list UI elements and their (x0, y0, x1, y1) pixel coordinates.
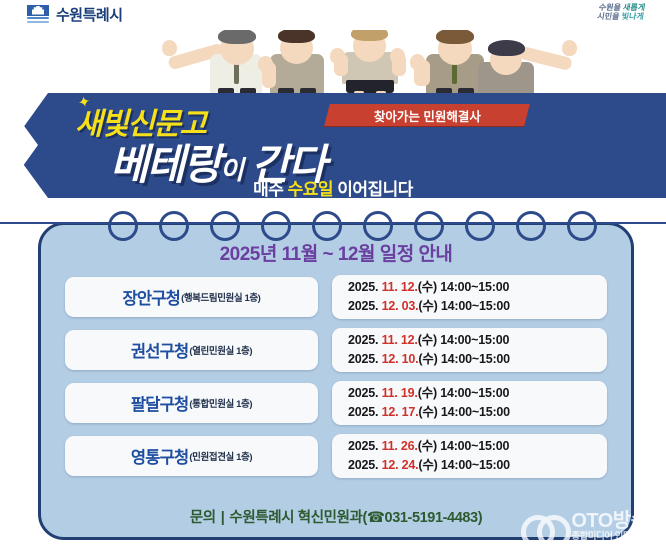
office-cell: 영통구청 (민원접견실 1층) (65, 436, 318, 476)
date-line-2: 2025. 12. 03.(수) 14:00~15:00 (348, 297, 607, 316)
date-rest: (수) 14:00~15:00 (418, 458, 510, 472)
banner-red-badge: 찾아가는 민원해결사 (324, 104, 529, 126)
office-place: (행복드림민원실 1층) (181, 290, 260, 304)
date-rest: (수) 14:00~15:00 (418, 299, 510, 313)
binder-ring-icon (414, 211, 444, 241)
city-slogan: 수원을 새롭게 시민을 빛나게 (596, 3, 645, 21)
date-rest: (수) 14:00~15:00 (418, 386, 510, 400)
page-header: 수원특례시 수원을 새롭게 시민을 빛나게 (0, 0, 666, 30)
tagline-part-a: 매주 (253, 180, 288, 199)
slogan-line1-b: 새롭게 (622, 3, 646, 12)
date-year: 2025. (348, 280, 382, 294)
banner-content: ✦ 새빛신문고 찾아가는 민원해결사 베테랑이 간다 매주 수요일 이어집니다 (0, 93, 666, 198)
table-row: 권선구청 (열린민원실 1층) 2025. 11. 12.(수) 14:00~1… (65, 328, 607, 372)
date-monthday: 12. 03. (382, 299, 419, 313)
date-rest: (수) 14:00~15:00 (418, 280, 510, 294)
schedule-rows: 장안구청 (행복드림민원실 1층) 2025. 11. 12.(수) 14:00… (65, 275, 607, 487)
date-line-2: 2025. 12. 24.(수) 14:00~15:00 (348, 456, 607, 475)
date-monthday: 12. 24. (382, 458, 419, 472)
office-name: 팔달구청 (131, 391, 189, 415)
dates-cell: 2025. 11. 12.(수) 14:00~15:00 2025. 12. 0… (332, 275, 607, 319)
date-year: 2025. (348, 299, 382, 313)
date-year: 2025. (348, 386, 382, 400)
table-row: 영통구청 (민원접견실 1층) 2025. 11. 26.(수) 14:00~1… (65, 434, 607, 478)
binder-ring-icon (465, 211, 495, 241)
date-monthday: 11. 12. (382, 333, 418, 347)
cheering-office-workers-illustration (0, 28, 666, 96)
date-year: 2025. (348, 439, 382, 453)
tagline-part-b: 이어집니다 (333, 180, 413, 199)
dates-cell: 2025. 11. 12.(수) 14:00~15:00 2025. 12. 1… (332, 328, 607, 372)
table-row: 장안구청 (행복드림민원실 1층) 2025. 11. 12.(수) 14:00… (65, 275, 607, 319)
date-rest: (수) 14:00~15:00 (418, 333, 510, 347)
date-year: 2025. (348, 352, 382, 366)
date-line-1: 2025. 11. 26.(수) 14:00~15:00 (348, 437, 607, 456)
date-year: 2025. (348, 458, 382, 472)
date-rest: (수) 14:00~15:00 (418, 352, 510, 366)
watermark-main-text: OTO방송 (571, 511, 658, 532)
date-line-1: 2025. 11. 19.(수) 14:00~15:00 (348, 384, 607, 403)
date-monthday: 11. 26. (382, 439, 418, 453)
suwon-city-emblem-icon (27, 5, 49, 25)
date-line-2: 2025. 12. 17.(수) 14:00~15:00 (348, 403, 607, 422)
date-year: 2025. (348, 333, 382, 347)
schedule-panel-title: 2025년 11월 ~ 12월 일정 안내 (41, 239, 631, 266)
office-place: (민원접견실 1층) (189, 449, 252, 463)
date-rest: (수) 14:00~15:00 (418, 439, 510, 453)
schedule-panel: 2025년 11월 ~ 12월 일정 안내 장안구청 (행복드림민원실 1층) … (38, 222, 634, 540)
office-cell: 팔달구청 (통합민원실 1층) (65, 383, 318, 423)
contact-text: 수원특례시 혁신민원과(☎031-5191-4483) (229, 510, 482, 526)
city-logo-text: 수원특례시 (56, 4, 123, 25)
binder-ring-icon (210, 211, 240, 241)
poster-root: 수원특례시 수원을 새롭게 시민을 빛나게 (0, 0, 666, 550)
dates-cell: 2025. 11. 19.(수) 14:00~15:00 2025. 12. 1… (332, 381, 607, 425)
binder-ring-icon (516, 211, 546, 241)
binder-ring-icon (567, 211, 597, 241)
banner-tagline: 매주 수요일 이어집니다 (0, 175, 666, 200)
binder-ring-icon (261, 211, 291, 241)
watermark-sub-text: 종합미디어 인터넷 방송 (571, 532, 658, 542)
contact-separator: | (216, 510, 230, 526)
date-line-1: 2025. 11. 12.(수) 14:00~15:00 (348, 278, 607, 297)
binder-ring-icon (159, 211, 189, 241)
date-monthday: 12. 10. (382, 352, 419, 366)
binder-ring-icon (312, 211, 342, 241)
office-name: 영통구청 (131, 444, 189, 468)
date-line-2: 2025. 12. 10.(수) 14:00~15:00 (348, 350, 607, 369)
slogan-line2-b: 빛나게 (620, 12, 644, 21)
contact-label: 문의 (190, 510, 216, 526)
binder-ring-icon (363, 211, 393, 241)
dates-cell: 2025. 11. 26.(수) 14:00~15:00 2025. 12. 2… (332, 434, 607, 478)
date-line-1: 2025. 11. 12.(수) 14:00~15:00 (348, 331, 607, 350)
office-place: (열린민원실 1층) (189, 343, 252, 357)
table-row: 팔달구청 (통합민원실 1층) 2025. 11. 19.(수) 14:00~1… (65, 381, 607, 425)
oto-broadcast-watermark: OTO방송 종합미디어 인터넷 방송 (521, 511, 658, 542)
slogan-line1-a: 수원을 (598, 3, 622, 12)
banner-badge-text: 찾아가는 민원해결사 (374, 106, 481, 125)
date-rest: (수) 14:00~15:00 (418, 405, 510, 419)
office-cell: 권선구청 (열린민원실 1층) (65, 330, 318, 370)
slogan-line2-a: 시민을 (596, 12, 620, 21)
date-monthday: 11. 12. (382, 280, 418, 294)
office-place: (통합민원실 1층) (189, 396, 252, 410)
office-name: 권선구청 (131, 338, 189, 362)
office-name: 장안구청 (123, 285, 181, 309)
tagline-highlight: 수요일 (288, 180, 333, 199)
date-monthday: 12. 17. (382, 405, 419, 419)
person-5 (470, 38, 590, 96)
office-cell: 장안구청 (행복드림민원실 1층) (65, 277, 318, 317)
date-year: 2025. (348, 405, 382, 419)
date-monthday: 11. 19. (382, 386, 418, 400)
city-logo: 수원특례시 (27, 4, 123, 25)
binder-ring-icon (108, 211, 138, 241)
oto-double-ring-icon (521, 512, 565, 542)
